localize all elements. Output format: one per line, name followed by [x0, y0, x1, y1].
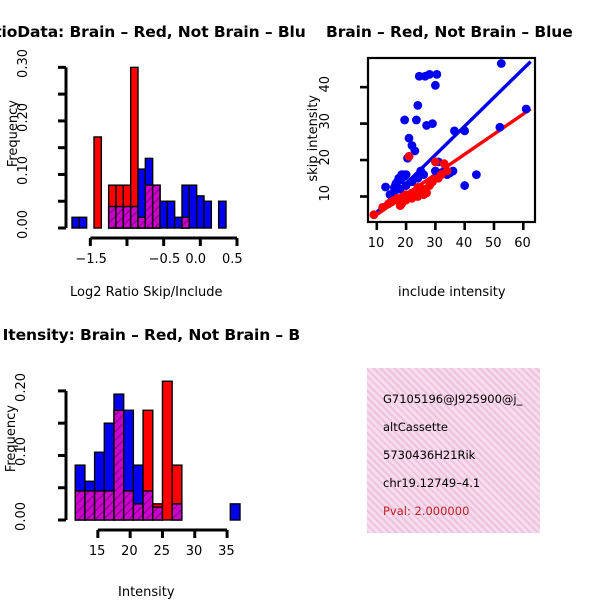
panel-info: G7105196@J925900@j_altCassette5730436H21…	[300, 300, 600, 600]
histogram-bar	[175, 217, 182, 228]
scatter-point	[497, 59, 506, 68]
scatter-point	[460, 126, 469, 135]
scatter-point	[416, 167, 425, 176]
scatter-point	[522, 105, 531, 114]
tick-label: 0.00	[14, 502, 29, 531]
scatter-title: Brain – Red, Not Brain – Blue	[326, 23, 573, 41]
scatter-point	[402, 196, 411, 205]
histogram-bar-overlap	[124, 491, 134, 520]
histogram-bar	[79, 217, 86, 228]
tick-label: 0.20	[14, 373, 29, 402]
scatter-point	[413, 183, 422, 192]
scatter-point	[402, 170, 411, 179]
scatter-point	[472, 170, 481, 179]
histogram-bar-overlap	[104, 491, 114, 520]
scatter-point	[495, 123, 504, 132]
histogram-bar	[72, 217, 79, 228]
histogram-bar-overlap	[114, 410, 124, 520]
histogram-bar-overlap	[143, 491, 153, 520]
info-line: 5730436H21Rik	[383, 448, 475, 462]
histogram-bar	[94, 137, 101, 228]
tick-label: 0.0	[185, 252, 206, 267]
scatter-point	[450, 126, 459, 135]
tick-label: 50	[485, 236, 502, 251]
histogram-bar-overlap	[85, 491, 95, 520]
tick-label: 0.30	[16, 49, 31, 78]
tick-label: 0.5	[222, 252, 243, 267]
tick-label: 20	[318, 149, 333, 166]
histogram-bar	[230, 504, 240, 520]
tick-label: 30	[318, 113, 333, 130]
histogram-bar-overlap	[138, 217, 145, 228]
histogram-bar-overlap	[133, 504, 143, 520]
histogram-bar	[162, 381, 172, 520]
scatter-point	[432, 70, 441, 79]
histogram-bar-overlap	[109, 207, 116, 228]
ratio-hist-title: RatioData: Brain – Red, Not Brain – Blu	[0, 23, 332, 41]
tick-label: 0.00	[16, 210, 31, 239]
tick-label: 10	[368, 236, 385, 251]
scatter-point	[431, 157, 440, 166]
histogram-bar-overlap	[116, 207, 123, 228]
tick-label: −1.5	[75, 252, 107, 267]
tick-label: 25	[153, 544, 170, 559]
tick-label: 40	[456, 236, 473, 251]
tick-label: 0.10	[14, 437, 29, 466]
histogram-bar-overlap	[131, 207, 138, 228]
histogram-bar	[131, 67, 138, 228]
intensity-hist-title: ne Itensity: Brain – Red, Not Brain – B	[0, 326, 336, 344]
intensity-hist-plot	[0, 300, 300, 600]
histogram-bar	[204, 201, 211, 228]
histogram-bar-overlap	[95, 491, 105, 520]
info-line: chr19.12749–4.1	[383, 476, 480, 490]
histogram-bar	[197, 196, 204, 228]
tick-label: 0.10	[16, 156, 31, 185]
scatter-ylabel: skip intensity	[306, 95, 321, 182]
panel-ratio-histogram: RatioData: Brain – Red, Not Brain – Blu …	[0, 0, 300, 300]
histogram-bar-overlap	[145, 185, 152, 228]
scatter-point	[390, 183, 399, 192]
panel-intensity-histogram: ne Itensity: Brain – Red, Not Brain – B …	[0, 300, 300, 600]
info-line: Pval: 2.000000	[383, 504, 469, 518]
scatter-point	[400, 116, 409, 125]
scatter-point	[405, 152, 414, 161]
gene-info-box: G7105196@J925900@j_altCassette5730436H21…	[367, 368, 540, 533]
histogram-bar-overlap	[172, 504, 182, 520]
scatter-point	[369, 210, 378, 219]
intensity-hist-xlabel: Intensity	[118, 585, 175, 600]
histogram-bar	[167, 201, 174, 228]
scatter-point	[412, 116, 421, 125]
histogram-bar-overlap	[182, 217, 189, 228]
scatter-point	[431, 81, 440, 90]
tick-label: 0.20	[16, 103, 31, 132]
scatter-point	[428, 119, 437, 128]
tick-label: 30	[426, 236, 443, 251]
scatter-point	[443, 167, 452, 176]
tick-label: −0.5	[149, 252, 181, 267]
tick-label: 30	[186, 544, 203, 559]
tick-label: 20	[121, 544, 138, 559]
histogram-bar	[219, 201, 226, 228]
info-line: G7105196@J925900@j_	[383, 392, 522, 406]
tick-label: 40	[318, 76, 333, 93]
tick-label: 35	[218, 544, 235, 559]
histogram-bar	[189, 185, 196, 228]
tick-label: 15	[89, 544, 106, 559]
info-line: altCassette	[383, 420, 448, 434]
panel-scatter: Brain – Red, Not Brain – Blue skip inten…	[300, 0, 600, 300]
histogram-bar-overlap	[75, 491, 85, 520]
tick-label: 10	[318, 185, 333, 202]
histogram-bar-overlap	[123, 207, 130, 228]
scatter-point	[381, 183, 390, 192]
scatter-xlabel: include intensity	[398, 285, 506, 300]
histogram-bar	[160, 201, 167, 228]
tick-label: 60	[514, 236, 531, 251]
ratio-hist-xlabel: Log2 Ratio Skip/Include	[70, 285, 222, 300]
histogram-bar-overlap	[153, 185, 160, 228]
scatter-point	[413, 101, 422, 110]
histogram-bar-overlap	[153, 507, 163, 520]
tick-label: 20	[397, 236, 414, 251]
scatter-plot	[300, 0, 600, 300]
scatter-point	[460, 181, 469, 190]
